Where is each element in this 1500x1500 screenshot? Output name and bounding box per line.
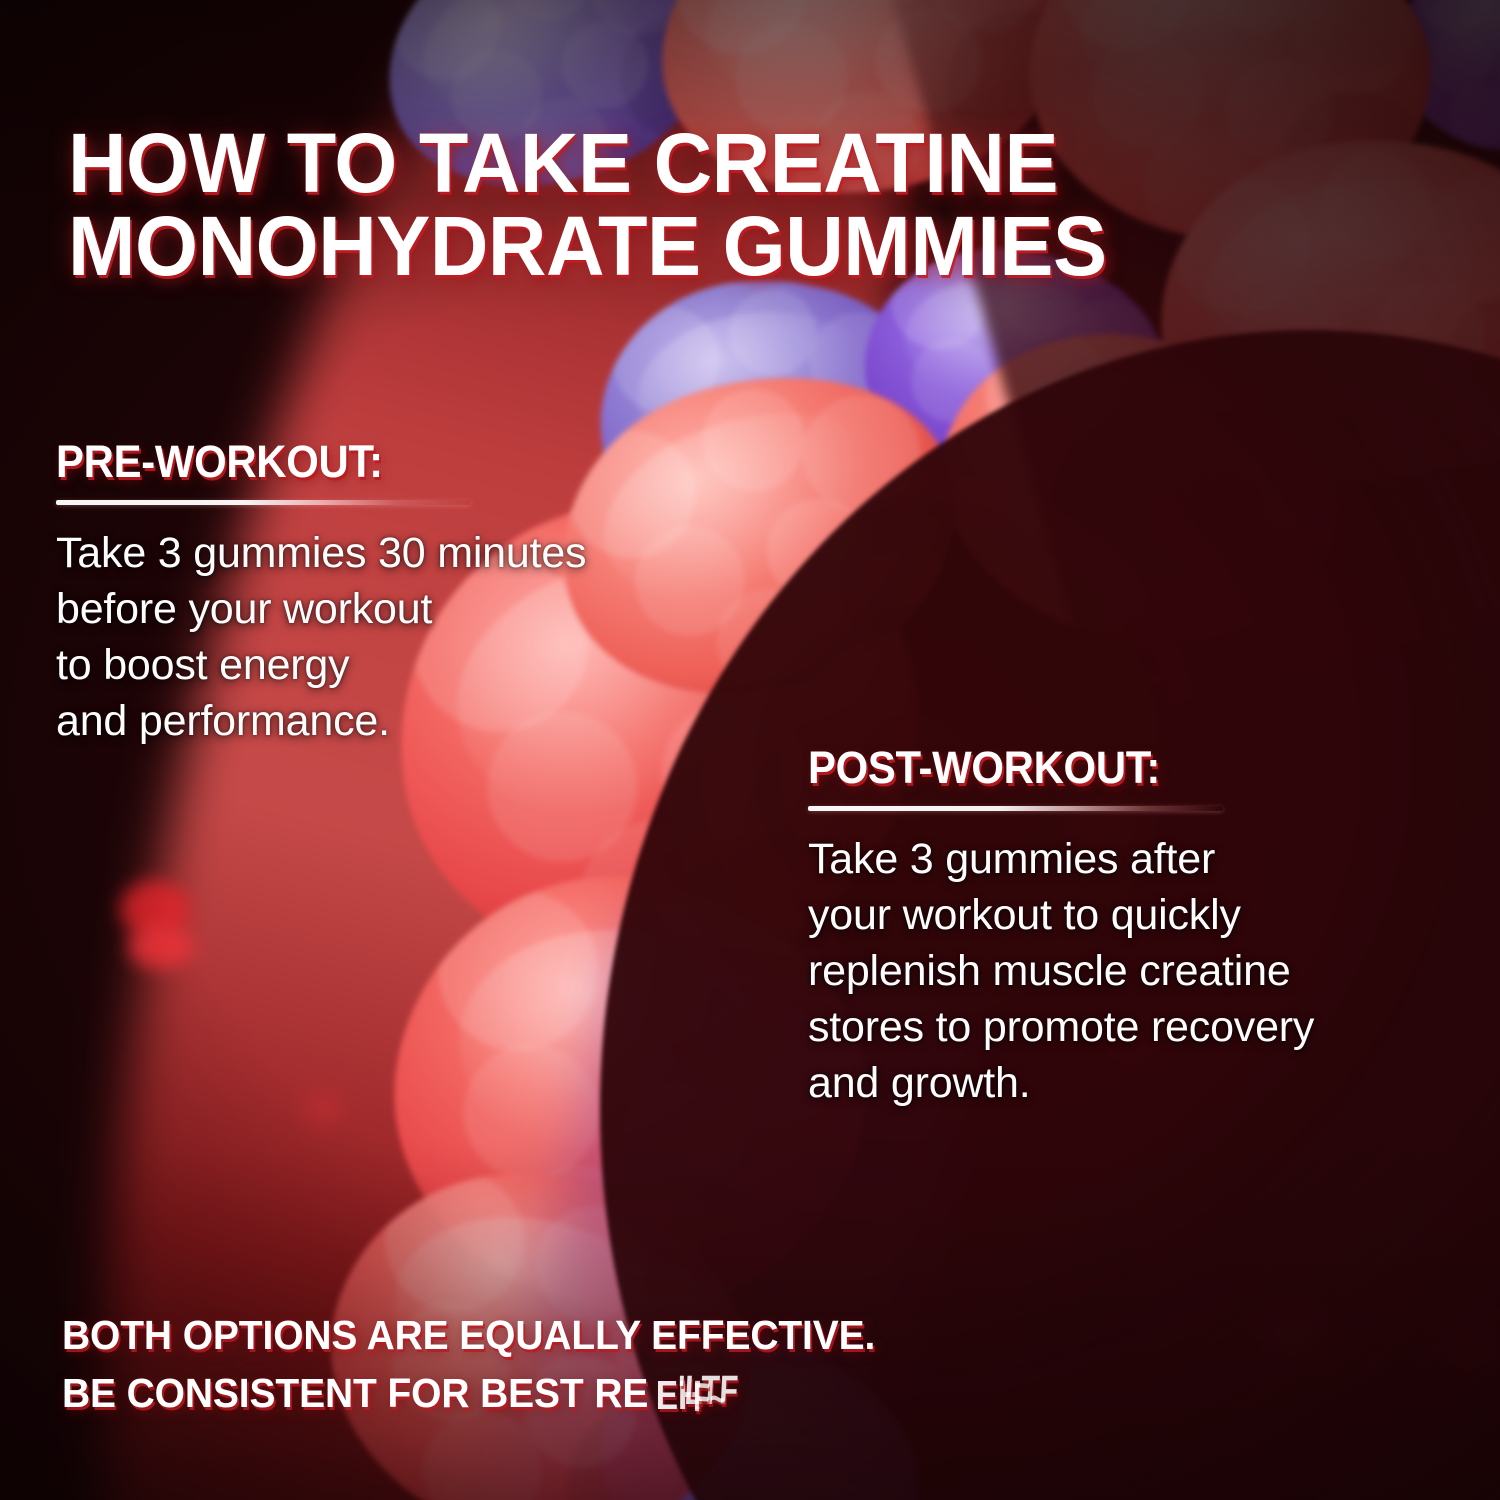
section-pre-workout: PRE-WORKOUT: Take 3 gummies 30 minutes b… xyxy=(56,436,756,750)
post-workout-body: Take 3 gummies after your workout to qui… xyxy=(808,832,1488,1111)
footer-glitch-layer-c: F~ xyxy=(693,1368,725,1429)
poster-content: HOW TO TAKE CREATINE MONOHYDRATE GUMMIES… xyxy=(0,0,1500,1500)
footer-line-1: BOTH OPTIONS ARE EQUALLY EFFECTIVE. xyxy=(62,1306,1316,1364)
section-post-workout: POST-WORKOUT: Take 3 gummies after your … xyxy=(808,742,1488,1111)
page-title: HOW TO TAKE CREATINE MONOHYDRATE GUMMIES xyxy=(68,122,1313,288)
pre-workout-heading: PRE-WORKOUT: xyxy=(56,436,707,488)
post-workout-heading: POST-WORKOUT: xyxy=(808,742,1440,794)
pre-workout-body: Take 3 gummies 30 minutes before your wo… xyxy=(56,526,756,750)
post-workout-underline xyxy=(808,806,1223,811)
footer-line-2-prefix: BE CONSISTENT FOR BEST RE xyxy=(62,1370,648,1416)
infographic-poster: HOW TO TAKE CREATINE MONOHYDRATE GUMMIES… xyxy=(0,0,1500,1500)
footer-note: BOTH OPTIONS ARE EQUALLY EFFECTIVE. BE C… xyxy=(62,1306,1382,1422)
footer-glitch-artifact: EH'LTFF~EH'LTFF~ xyxy=(648,1364,826,1422)
pre-workout-underline xyxy=(56,500,471,505)
footer-line-2: BE CONSISTENT FOR BEST REEH'LTFF~EH'LTFF… xyxy=(62,1364,1316,1422)
